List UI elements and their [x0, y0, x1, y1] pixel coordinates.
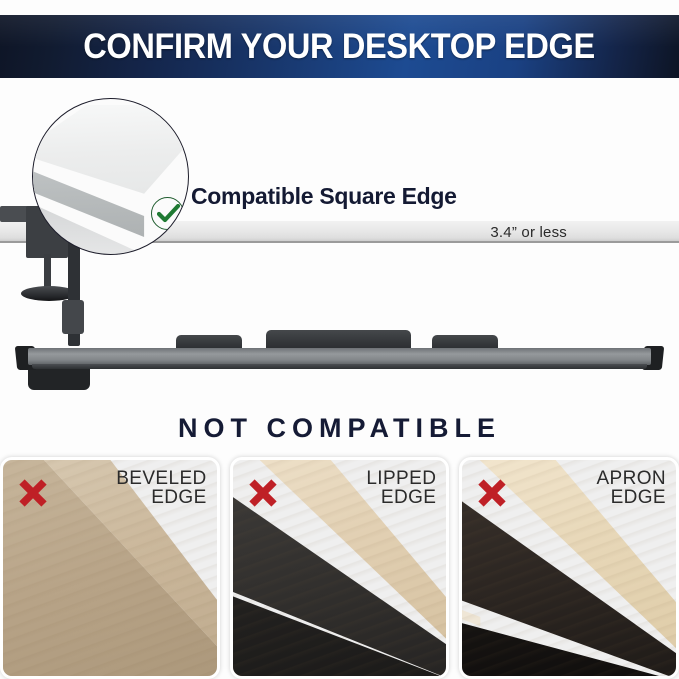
- page-title: CONFIRM YOUR DESKTOP EDGE: [84, 27, 596, 67]
- square-edge-callout-circle: [32, 98, 189, 255]
- panel-lipped-label-line1: LIPPED: [366, 468, 436, 489]
- tray-tab-center: [266, 330, 411, 350]
- panel-beveled-label-line1: BEVELED: [116, 468, 206, 489]
- compatible-edge-label: Compatible Square Edge: [191, 183, 457, 210]
- not-compatible-heading: NOT COMPATIBLE: [0, 413, 679, 444]
- red-x-icon: [17, 478, 49, 513]
- hero-illustration: 3.4” or less: [0, 78, 679, 408]
- thickness-measurement-label: 3.4” or less: [490, 224, 567, 241]
- panel-lipped-label: LIPPED EDGE: [366, 469, 436, 508]
- panel-lipped-label-line2: EDGE: [366, 488, 436, 507]
- incompatible-edge-panels: BEVELED EDGE LIPPED EDGE: [0, 457, 679, 679]
- red-x-icon: [476, 478, 508, 513]
- panel-beveled-label: BEVELED EDGE: [116, 469, 206, 508]
- keyboard-tray: [28, 324, 651, 372]
- infographic-page: CONFIRM YOUR DESKTOP EDGE 3.4” or less: [0, 0, 679, 679]
- header-banner: CONFIRM YOUR DESKTOP EDGE: [0, 15, 679, 78]
- tray-underside: [32, 364, 647, 369]
- panel-apron-label-line1: APRON: [596, 468, 666, 489]
- green-check-circle-icon: [151, 197, 184, 230]
- panel-apron-edge: APRON EDGE: [459, 457, 679, 679]
- panel-beveled-edge: BEVELED EDGE: [0, 457, 220, 679]
- panel-lipped-edge: LIPPED EDGE: [230, 457, 450, 679]
- red-x-icon: [247, 478, 279, 513]
- panel-beveled-label-line2: EDGE: [116, 488, 206, 507]
- tray-surface: [28, 348, 651, 365]
- panel-apron-label-line2: EDGE: [596, 488, 666, 507]
- panel-apron-label: APRON EDGE: [596, 469, 666, 508]
